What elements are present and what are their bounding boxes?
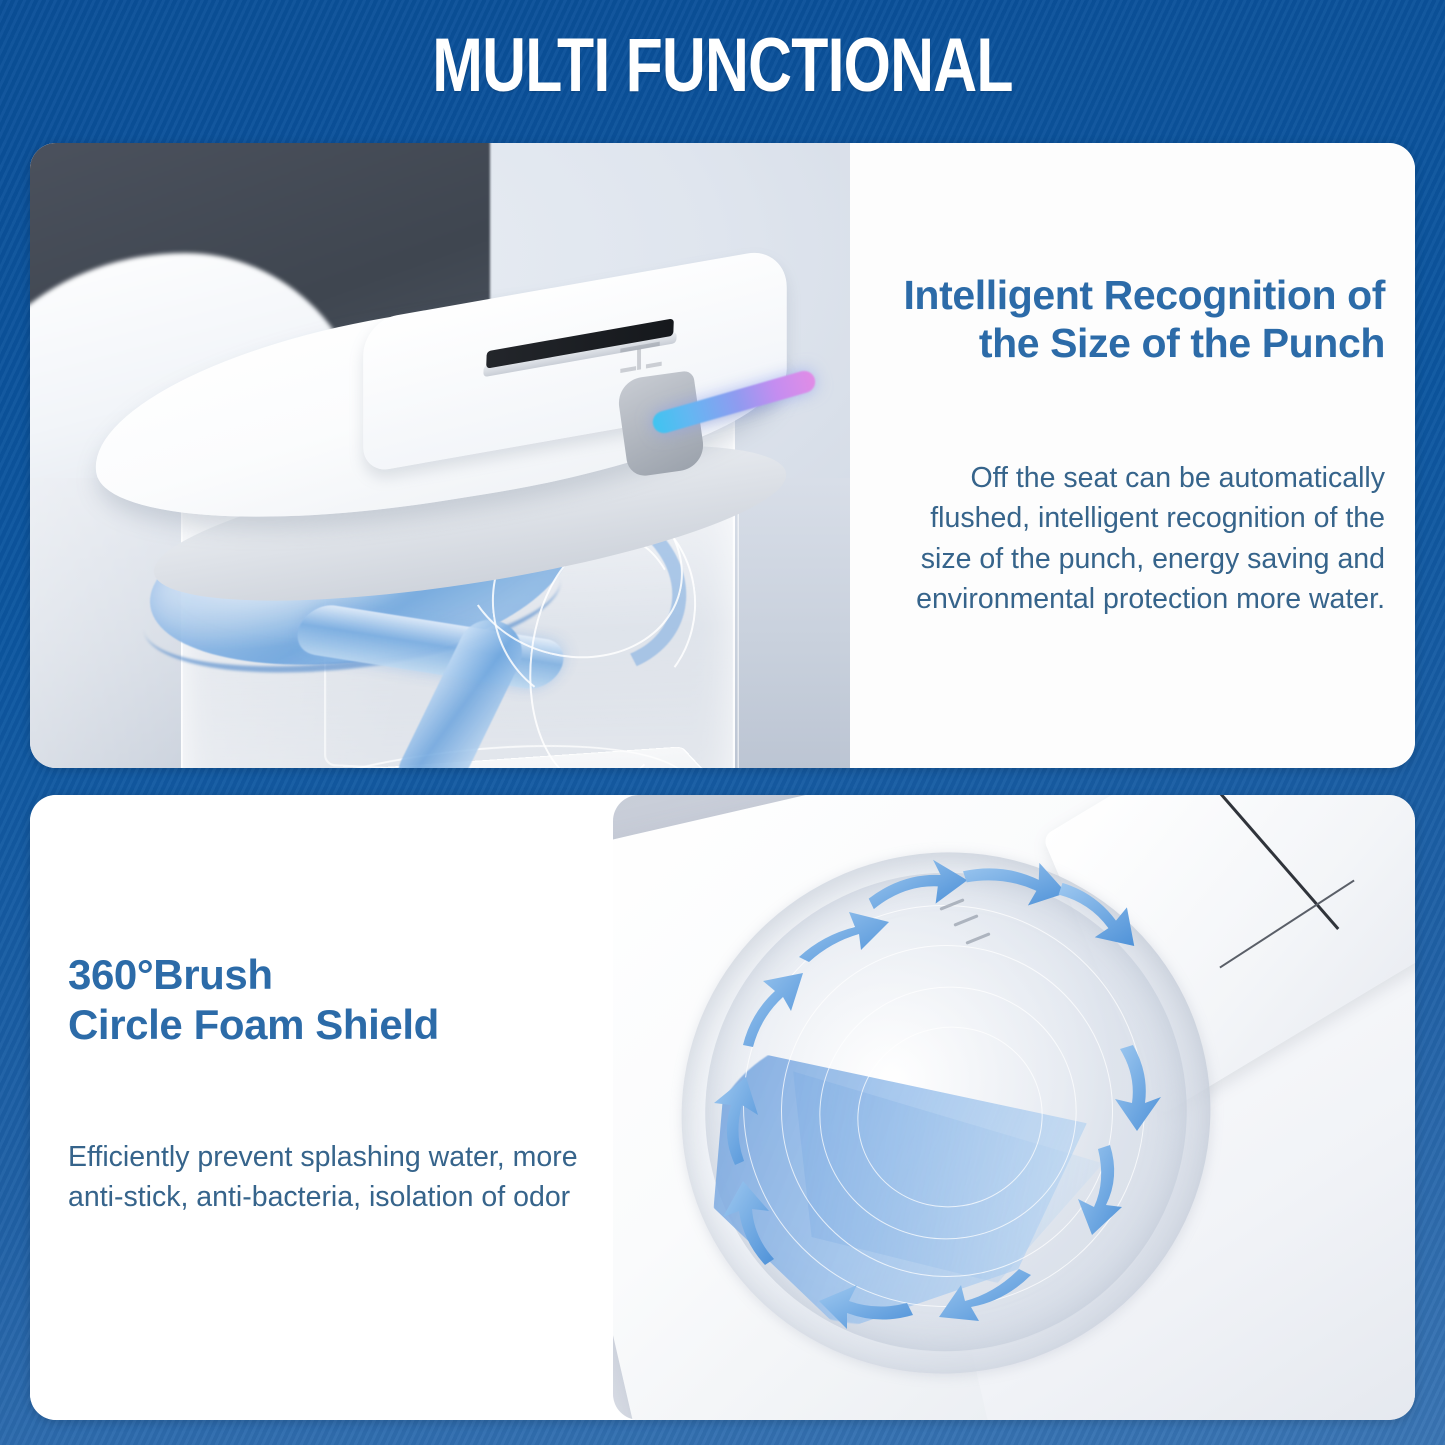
feature-text-panel-bottom: 360°Brush Circle Foam Shield Efficiently… (30, 795, 630, 1420)
flush-arrows (714, 856, 1161, 1329)
infographic-page: MULTI FUNCTIONAL (0, 0, 1445, 1445)
feature-heading-line-1: 360°Brush (68, 950, 608, 1000)
bowl-flush-image (613, 795, 1415, 1420)
flush-arrow-group (613, 795, 1415, 1420)
flush-arrow-icon (714, 1077, 758, 1165)
flush-arrow-icon (743, 973, 803, 1047)
feature-heading-line-2: Circle Foam Shield (68, 1000, 608, 1050)
flush-arrow-icon (962, 860, 1067, 907)
feature-text-panel-top: Intelligent Recognition of the Size of t… (850, 143, 1415, 768)
flush-arrow-icon (865, 856, 969, 910)
page-title: MULTI FUNCTIONAL (145, 28, 1301, 104)
flush-arrow-icon (1078, 1145, 1122, 1235)
flush-arrow-icon (799, 912, 889, 962)
flush-arrow-icon (723, 1181, 774, 1265)
feature-heading-intelligent-recognition: Intelligent Recognition of the Size of t… (875, 271, 1385, 368)
feature-body-circle-foam-shield: Efficiently prevent splashing water, mor… (68, 1137, 608, 1218)
flush-arrow-icon (939, 1269, 1031, 1321)
feature-card-circle-foam-shield: 360°Brush Circle Foam Shield Efficiently… (30, 795, 1415, 1420)
feature-card-intelligent-recognition: Intelligent Recognition of the Size of t… (30, 143, 1415, 768)
product-cutaway-image (30, 143, 850, 768)
flush-arrow-icon (1115, 1045, 1161, 1131)
flush-arrow-icon (819, 1285, 913, 1329)
feature-body-intelligent-recognition: Off the seat can be automatically flushe… (895, 458, 1385, 620)
flush-arrow-icon (1055, 883, 1138, 946)
feature-heading-circle-foam-shield: 360°Brush Circle Foam Shield (68, 950, 608, 1049)
